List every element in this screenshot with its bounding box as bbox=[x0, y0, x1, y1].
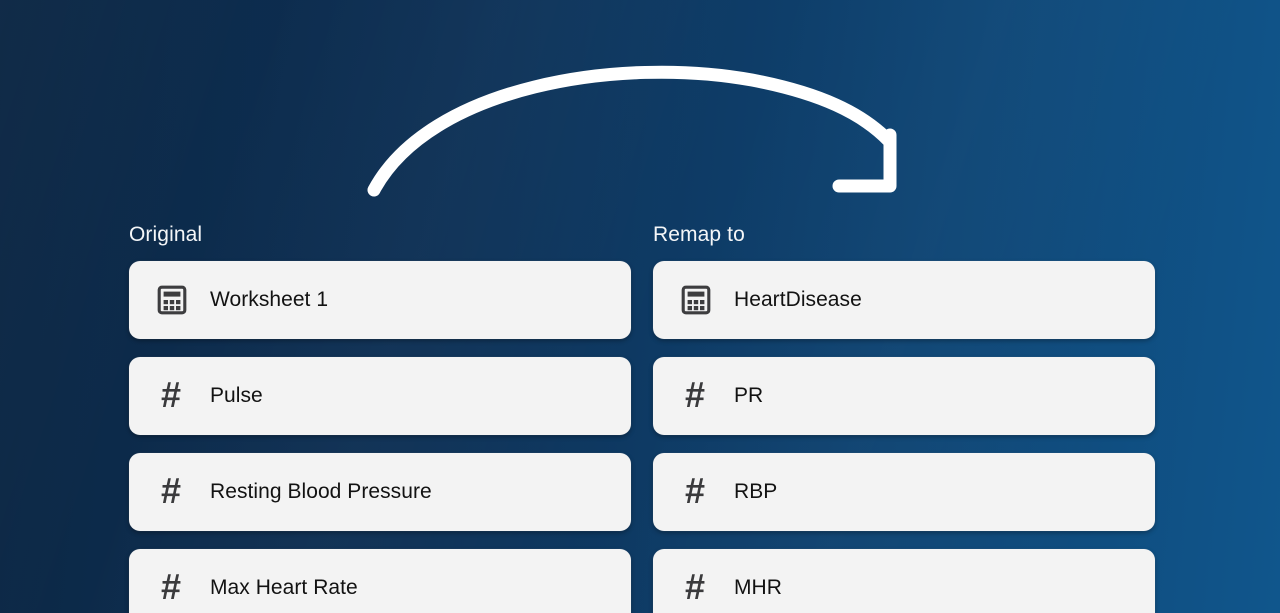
hash-icon: # bbox=[155, 379, 189, 413]
remap-fields-illustration: Original Worksheet 1 # Pulse bbox=[0, 0, 1280, 613]
hash-glyph: # bbox=[685, 474, 705, 508]
hash-icon: # bbox=[155, 475, 189, 509]
row-label: Pulse bbox=[210, 384, 263, 408]
row-original-max-heart-rate[interactable]: # Max Heart Rate bbox=[129, 549, 631, 613]
hash-icon: # bbox=[679, 475, 713, 509]
row-remap-mhr[interactable]: # MHR bbox=[653, 549, 1155, 613]
column-remap-to: Remap to HeartDisease # PR bbox=[653, 222, 1155, 613]
column-original: Original Worksheet 1 # Pulse bbox=[129, 222, 631, 613]
hash-glyph: # bbox=[161, 474, 181, 508]
row-label: Max Heart Rate bbox=[210, 576, 358, 600]
hash-icon: # bbox=[155, 571, 189, 605]
row-remap-heartdisease[interactable]: HeartDisease bbox=[653, 261, 1155, 339]
column-header-original: Original bbox=[129, 222, 631, 248]
hash-glyph: # bbox=[685, 378, 705, 412]
hash-glyph: # bbox=[161, 570, 181, 604]
row-remap-pr[interactable]: # PR bbox=[653, 357, 1155, 435]
row-label: HeartDisease bbox=[734, 288, 862, 312]
hash-icon: # bbox=[679, 571, 713, 605]
hash-glyph: # bbox=[685, 570, 705, 604]
row-original-worksheet-1[interactable]: Worksheet 1 bbox=[129, 261, 631, 339]
table-icon bbox=[155, 283, 189, 317]
arrow-head-icon bbox=[839, 135, 890, 186]
row-label: Resting Blood Pressure bbox=[210, 480, 432, 504]
hash-icon: # bbox=[679, 379, 713, 413]
row-label: MHR bbox=[734, 576, 782, 600]
hash-glyph: # bbox=[161, 378, 181, 412]
row-label: PR bbox=[734, 384, 763, 408]
row-original-pulse[interactable]: # Pulse bbox=[129, 357, 631, 435]
arrow-arc bbox=[374, 72, 889, 190]
table-icon bbox=[679, 283, 713, 317]
row-original-resting-blood-pressure[interactable]: # Resting Blood Pressure bbox=[129, 453, 631, 531]
row-remap-rbp[interactable]: # RBP bbox=[653, 453, 1155, 531]
row-label: RBP bbox=[734, 480, 777, 504]
row-label: Worksheet 1 bbox=[210, 288, 328, 312]
column-header-remap-to: Remap to bbox=[653, 222, 1155, 248]
